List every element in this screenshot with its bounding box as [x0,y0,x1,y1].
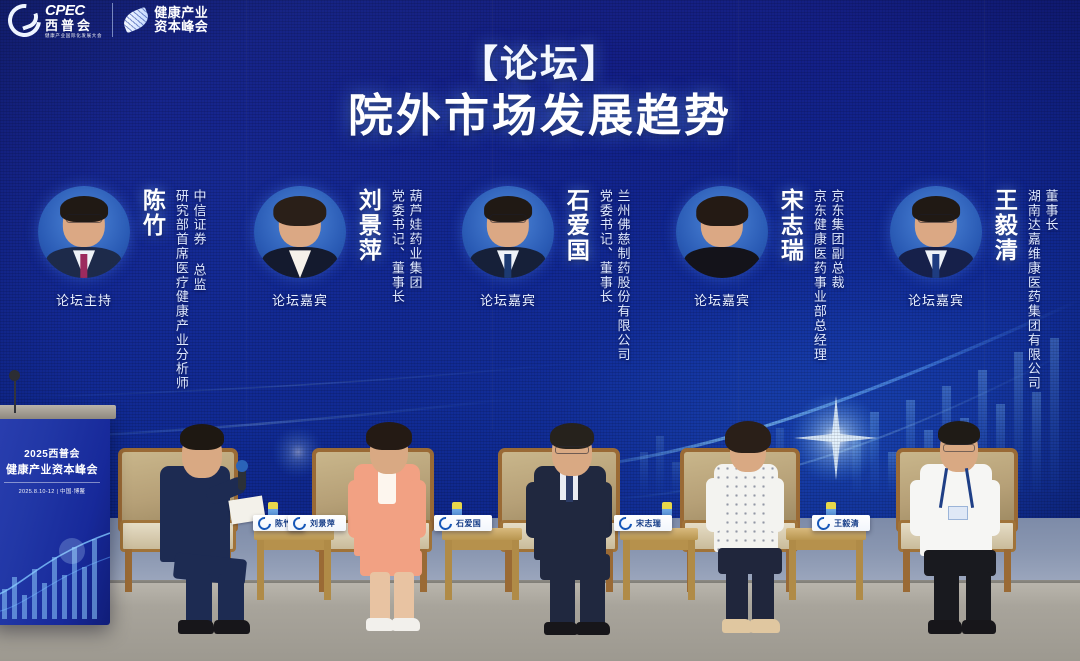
forum-title-line2: 院外市场发展趋势 [0,89,1080,142]
panelist-card-2: 论坛嘉宾 刘景萍 葫芦娃药业集团 党委书记、董事长 [250,186,421,309]
podium-chart-graphic [0,517,110,625]
panelist-3-role: 论坛嘉宾 [480,290,536,309]
panelist-2-title-line-2: 党委书记、董事长 [389,189,404,304]
side-table-2 [442,528,522,600]
seated-person-4 [700,424,806,636]
seated-person-1-moderator [150,424,270,636]
nameplate-logo-icon [436,514,454,532]
panelist-card-5: 论坛嘉宾 王毅清 董事长 湖南达嘉维康医药集团有限公司 [886,186,1057,391]
panelist-1-portrait [38,186,130,278]
panelist-4-role: 论坛嘉宾 [694,290,750,309]
podium-banner-line3: 2025.8.10-12 | 中国·博鳌 [0,487,110,495]
panelist-3-portrait [462,186,554,278]
nameplate-logo-icon [814,514,832,532]
podium-top [0,405,116,419]
health-summit-logo: 健康产业 资本峰会 [123,6,208,34]
panelist-5-title-line-1: 董事长 [1043,189,1058,391]
forum-title-block: 【论坛】 院外市场发展趋势 [0,44,1080,142]
conference-stage-photo: CPEC 西普会 健康产业国际化发展大会 健康产业 资本峰会 【论坛】 院外市场… [0,0,1080,661]
eyeglasses-icon [943,444,975,452]
nameplate-3-text: 石爱国 [456,518,481,529]
panelist-5-portrait [890,186,982,278]
health-logo-line1: 健康产业 [154,6,208,20]
panelist-4-name: 宋志瑞 [778,188,802,263]
microphone-icon [9,370,20,381]
panelist-4-title-line-2: 京东健康医药事业部总经理 [811,189,826,362]
panelist-card-3: 论坛嘉宾 石爱国 兰州佛慈制药股份有限公司 党委书记、董事长 [458,186,629,362]
panelist-2-title-line-1: 葫芦娃药业集团 [407,189,422,304]
nameplate-logo-icon [255,514,273,532]
podium-banner-line2: 健康产业资本峰会 [0,461,110,477]
nameplate-5-text: 王毅清 [834,518,859,529]
panelist-3-name: 石爱国 [564,188,588,263]
panelist-5-role: 论坛嘉宾 [908,290,964,309]
panelist-2-name: 刘景萍 [356,188,380,263]
panelist-2-role: 论坛嘉宾 [272,290,328,309]
microphone-stand [14,379,16,413]
nameplate-logo-icon [290,514,308,532]
panelist-4-title-line-1: 京东集团副总裁 [829,189,844,362]
cpec-logo-tagline: 健康产业国际化发展大会 [45,34,102,39]
panelist-1-title-line-2: 研究部首席医疗健康产业分析师 [173,189,188,391]
eyeglasses-icon [555,446,589,454]
logo-bar: CPEC 西普会 健康产业国际化发展大会 健康产业 资本峰会 [8,2,208,39]
nameplate-4: 宋志瑞 [614,515,672,531]
podium-banner: 2025西普会 健康产业资本峰会 2025.8.10-12 | 中国·博鳌 [0,413,110,625]
cpec-logo: CPEC 西普会 健康产业国际化发展大会 [8,2,102,39]
panelist-3-title-line-2: 党委书记、董事长 [597,189,612,362]
panelist-2-portrait [254,186,346,278]
panelist-card-4: 论坛嘉宾 宋志瑞 京东集团副总裁 京东健康医药事业部总经理 [672,186,843,362]
panelist-5-name: 王毅清 [992,188,1016,263]
seated-person-5 [908,422,1024,636]
health-logo-line2: 资本峰会 [154,20,208,34]
nameplate-2-text: 刘景萍 [310,518,335,529]
podium-banner-line1: 2025西普会 [0,445,110,460]
cpec-ring-logo-icon [1,0,47,43]
panelist-1-title-line-1: 中信证券 总监 [191,189,206,391]
badge-card [948,506,968,520]
panelist-card-1: 论坛主持 陈竹 中信证券 总监 研究部首席医疗健康产业分析师 [34,186,205,391]
nameplate-3: 石爱国 [434,515,492,531]
panelist-1-role: 论坛主持 [56,290,112,309]
forum-title-line1: 【论坛】 [0,44,1080,87]
panelist-3-title-line-1: 兰州佛慈制药股份有限公司 [615,189,630,362]
nameplate-2: 刘景萍 [288,515,346,531]
cpec-logo-name: 西普会 [45,19,102,32]
podium: 2025西普会 健康产业资本峰会 2025.8.10-12 | 中国·博鳌 [0,373,114,625]
nameplate-4-text: 宋志瑞 [636,518,661,529]
panelist-1-name: 陈竹 [140,188,164,238]
nameplate-logo-icon [616,514,634,532]
cpec-logo-abbr: CPEC [45,3,102,18]
panelist-4-portrait [676,186,768,278]
podium-rule [4,482,100,483]
panelist-5-title-line-2: 湖南达嘉维康医药集团有限公司 [1025,189,1040,391]
leaf-mark-icon [121,7,152,33]
nameplate-5: 王毅清 [812,515,870,531]
logo-divider [112,3,113,37]
